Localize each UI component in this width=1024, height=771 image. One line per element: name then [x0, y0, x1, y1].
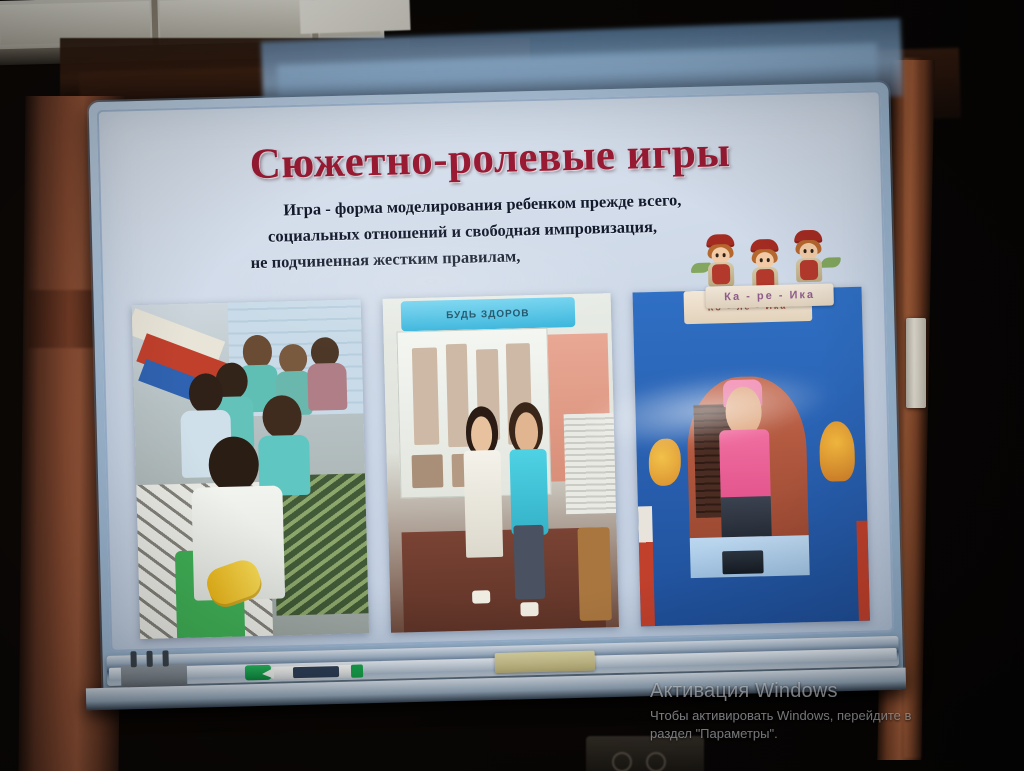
cartoon-kid-1: [702, 234, 739, 287]
classroom-scene: Сюжетно-ролевые игры Игра - форма модели…: [0, 0, 1024, 771]
clipart-sign-label: Ка - ре - Ика: [705, 283, 834, 308]
projection-surface: Сюжетно-ролевые игры Игра - форма модели…: [97, 90, 894, 652]
wood-panel-right-highlight: [904, 58, 922, 758]
photo-banner-label: БУДЬ ЗДОРОВ: [401, 297, 575, 331]
whiteboard: Сюжетно-ролевые игры Игра - форма модели…: [89, 82, 904, 702]
window-light-patch: [299, 0, 410, 34]
light-switch-plate[interactable]: [906, 318, 926, 408]
photo-children-seated-row: [132, 299, 369, 639]
whiteboard-eraser[interactable]: [495, 651, 595, 674]
photo-doctor-roleplay: БУДЬ ЗДОРОВ: [382, 293, 619, 633]
presentation-slide: Сюжетно-ролевые игры Игра - форма модели…: [97, 90, 894, 652]
page-title: Сюжетно-ролевые игры: [98, 124, 883, 193]
furniture-below-board: [586, 736, 704, 771]
cartoon-children-clipart: Ка - ре - Ика: [698, 231, 850, 309]
cartoon-kid-3: [790, 230, 827, 283]
photo-row: БУДЬ ЗДОРОВ: [132, 287, 870, 641]
whiteboard-marker[interactable]: [271, 665, 359, 680]
photo-shop-roleplay: Ко - ле - Ика: [633, 287, 870, 627]
cartoon-kid-2: [746, 239, 783, 292]
